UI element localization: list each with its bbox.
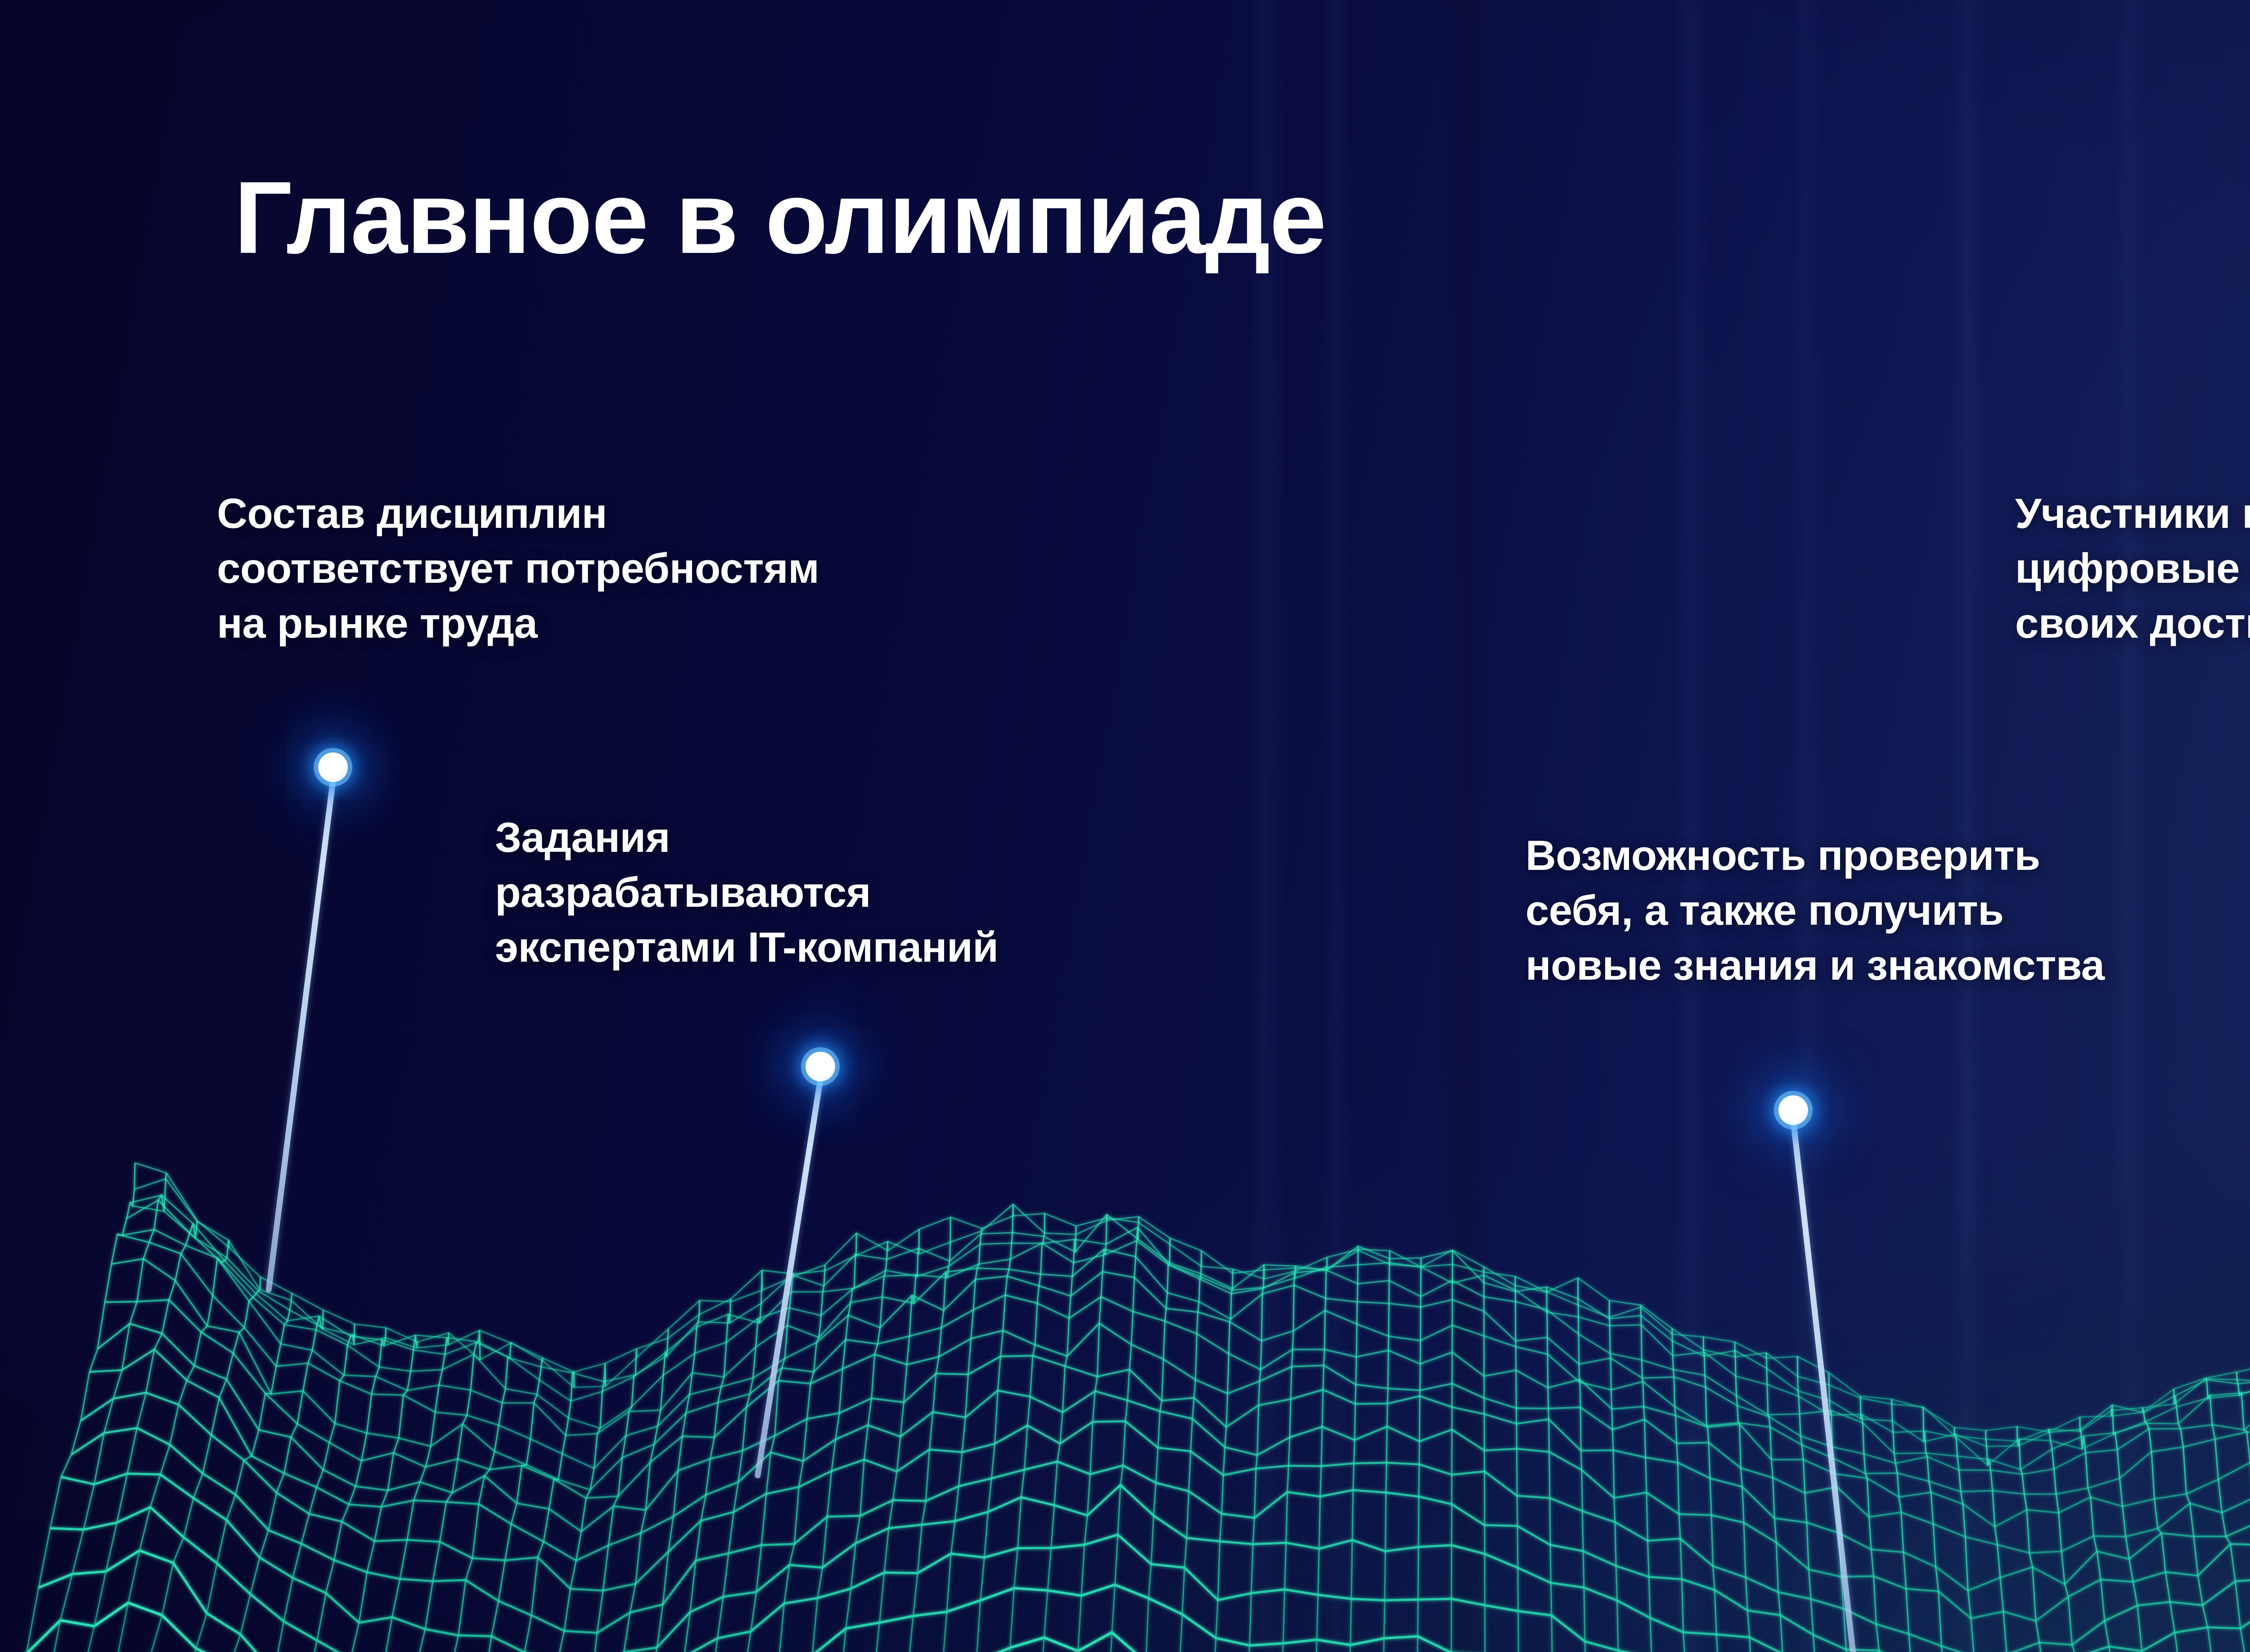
pin-dot[interactable] (805, 1052, 835, 1081)
mesh-line (2111, 1405, 2177, 1652)
mesh-line (1451, 1250, 1453, 1652)
mesh-lines (0, 1163, 2250, 1652)
callout-line: соответствует потребностям (217, 541, 819, 596)
callout-line: разрабатываются (495, 865, 999, 920)
callout-text-4: Участники получают цифровые сертификаты … (2015, 486, 2250, 651)
mesh-line (829, 1242, 888, 1652)
mesh-line (61, 1474, 2250, 1652)
callout-text-3: Возможность проверить себя, а также полу… (1525, 828, 2105, 993)
mesh-line (1860, 1396, 1900, 1652)
mesh-line (1766, 1353, 1796, 1652)
mesh-line (1347, 1246, 1359, 1652)
callout-line: Состав дисциплин (217, 486, 819, 541)
mesh-line (622, 1301, 700, 1652)
mesh-line (864, 1229, 919, 1652)
mesh-line (1892, 1399, 1935, 1652)
mesh-line (173, 1293, 292, 1652)
mesh-line (27, 1603, 2250, 1652)
mesh-line (518, 1363, 606, 1652)
wireframe-terrain-mesh (0, 1044, 2250, 1652)
callout-text-2: Задания разрабатываются экспертами IT-ко… (495, 810, 999, 975)
callout-line: себя, а также получить (1525, 883, 2105, 938)
mesh-line (1036, 1226, 1076, 1652)
mesh-line (1703, 1337, 1727, 1652)
callout-line: Участники получают (2015, 486, 2250, 541)
mesh-line (967, 1204, 1013, 1652)
terrain-svg (0, 1044, 2250, 1652)
mesh-line (0, 1163, 135, 1652)
mesh-line (138, 1277, 261, 1652)
callout-line: цифровые сертификаты (2015, 541, 2250, 596)
mesh-line (1484, 1267, 1485, 1652)
mesh-line (346, 1333, 449, 1652)
callout-line: Возможность проверить (1525, 828, 2105, 883)
mesh-line (1515, 1277, 1520, 1652)
mesh-line (135, 1179, 2250, 1513)
mesh-line (1382, 1251, 1390, 1652)
mesh-line (1002, 1213, 1044, 1652)
mesh-line (1278, 1266, 1296, 1652)
callout-line: на рынке труда (217, 596, 819, 651)
callout-line: своих достижений (2015, 596, 2250, 651)
mesh-line (2048, 1429, 2107, 1652)
callout-line: экспертами IT-компаний (495, 920, 999, 975)
pin-dot[interactable] (318, 752, 348, 782)
mesh-line (1416, 1258, 1421, 1652)
callout-line: новые знания и знакомства (1525, 938, 2105, 993)
callout-text-1: Состав дисциплин соответствует потребнос… (217, 486, 819, 651)
mesh-line (587, 1329, 668, 1652)
mesh-line (1641, 1305, 1658, 1652)
mesh-line (933, 1229, 982, 1652)
pin-dot[interactable] (1778, 1095, 1808, 1125)
slide-canvas: Главное в олимпиаде Состав дисциплин соо… (0, 0, 2250, 1652)
mesh-line (898, 1217, 950, 1652)
page-title: Главное в олимпиаде (234, 167, 1326, 269)
callout-line: Задания (495, 810, 999, 865)
